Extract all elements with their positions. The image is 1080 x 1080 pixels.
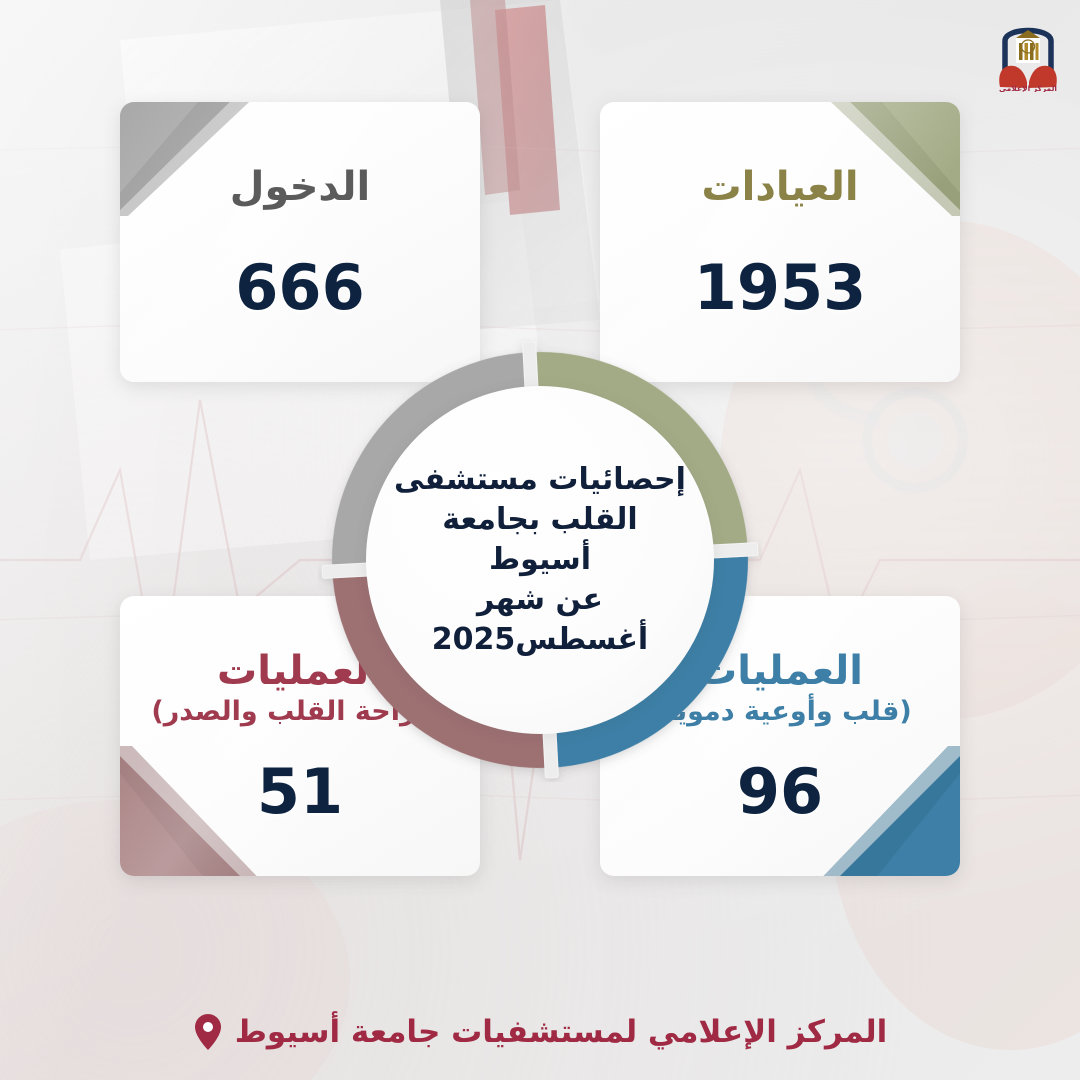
center-title: إحصائيات مستشفى القلب بجامعة أسيوط عن شه… <box>390 460 690 661</box>
card-label-admissions: الدخول <box>230 165 370 210</box>
logo-caption: المركز الإعلامي <box>999 84 1057 92</box>
card-value-clinics: 1953 <box>694 257 867 319</box>
card-value-admissions: 666 <box>235 257 364 319</box>
donut-center-hub: إحصائيات مستشفى القلب بجامعة أسيوط عن شه… <box>366 386 714 734</box>
card-label-clinics: العيادات <box>701 165 858 210</box>
footer-text: المركز الإعلامي لمستشفيات جامعة أسيوط <box>235 1014 888 1050</box>
footer-bar: المركز الإعلامي لمستشفيات جامعة أسيوط <box>0 1006 1080 1058</box>
location-pin-icon <box>193 1013 223 1051</box>
infographic-canvas: المركز الإعلامي الدخول 666 العيادات 1953 <box>0 0 1080 1080</box>
media-center-logo: المركز الإعلامي <box>988 12 1068 92</box>
